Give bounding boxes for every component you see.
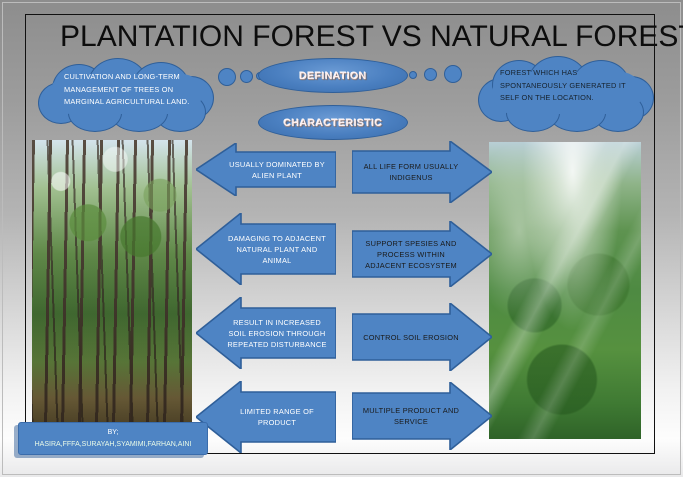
ellipse-defination-label: DEFINATION (299, 70, 366, 82)
natural-mist-layer (489, 142, 641, 439)
page-title: PLANTATION FOREST VS NATURAL FOREST (60, 20, 620, 54)
ellipse-defination[interactable]: DEFINATION (258, 58, 408, 93)
arrow-multiple-product[interactable]: MULTIPLE PRODUCT AND SERVICE (352, 382, 492, 450)
arrow-soil-erosion-increase[interactable]: RESULT IN INCREASED SOIL EROSION THROUGH… (196, 297, 336, 369)
credit-box: BY; HASIRA,FFFA,SURAYAH,SYAMIMI,FARHAN,A… (18, 422, 208, 455)
arrow-limited-range[interactable]: LIMITED RANGE OF PRODUCT (196, 381, 336, 453)
arrow-indigenus-label: ALL LIFE FORM USUALLY INDIGENUS (352, 161, 470, 183)
thought-dot-r3 (444, 65, 462, 83)
thought-dot-l1 (218, 68, 236, 86)
arrow-alien-plant-label: USUALLY DOMINATED BY ALIEN PLANT (218, 159, 336, 181)
natural-forest-photo (489, 142, 641, 439)
arrow-control-soil-erosion[interactable]: CONTROL SOIL EROSION (352, 303, 492, 371)
credit-prefix: BY; (19, 427, 207, 439)
ellipse-characteristic-label: CHARACTERISTIC (284, 117, 383, 129)
thought-dot-l2 (240, 70, 253, 83)
cloud-right-text: FOREST WHICH HAS SPONTANEOUSLY GENERATED… (500, 67, 628, 105)
cloud-natural-definition: FOREST WHICH HAS SPONTANEOUSLY GENERATED… (478, 56, 656, 130)
cloud-left-text: CULTIVATION AND LONG-TERM MANAGEMENT OF … (64, 71, 190, 109)
arrow-soil-erosion-increase-label: RESULT IN INCREASED SOIL EROSION THROUGH… (218, 317, 336, 350)
arrow-control-soil-erosion-label: CONTROL SOIL EROSION (357, 332, 465, 343)
thought-dot-r1 (409, 71, 417, 79)
arrow-limited-range-label: LIMITED RANGE OF PRODUCT (218, 406, 336, 428)
arrow-multiple-product-label: MULTIPLE PRODUCT AND SERVICE (352, 405, 470, 427)
arrow-support-spesies-label: SUPPORT SPESIES AND PROCESS WITHIN ADJAC… (352, 238, 470, 271)
arrow-damaging-adjacent[interactable]: DAMAGING TO ADJACENT NATURAL PLANT AND A… (196, 213, 336, 285)
ellipse-characteristic[interactable]: CHARACTERISTIC (258, 105, 408, 140)
credit-names: HASIRA,FFFA,SURAYAH,SYAMIMI,FARHAN,AINI (19, 439, 207, 451)
arrow-support-spesies[interactable]: SUPPORT SPESIES AND PROCESS WITHIN ADJAC… (352, 221, 492, 287)
slide-canvas: PLANTATION FOREST VS NATURAL FOREST CULT… (0, 0, 683, 477)
thought-dot-r2 (424, 68, 437, 81)
arrow-damaging-adjacent-label: DAMAGING TO ADJACENT NATURAL PLANT AND A… (218, 233, 336, 266)
cloud-plantation-definition: CULTIVATION AND LONG-TERM MANAGEMENT OF … (36, 58, 216, 130)
plantation-forest-photo (32, 140, 192, 440)
arrow-indigenus[interactable]: ALL LIFE FORM USUALLY INDIGENUS (352, 141, 492, 203)
arrow-alien-plant[interactable]: USUALLY DOMINATED BY ALIEN PLANT (196, 143, 336, 196)
plantation-canopy-layer (32, 140, 192, 278)
